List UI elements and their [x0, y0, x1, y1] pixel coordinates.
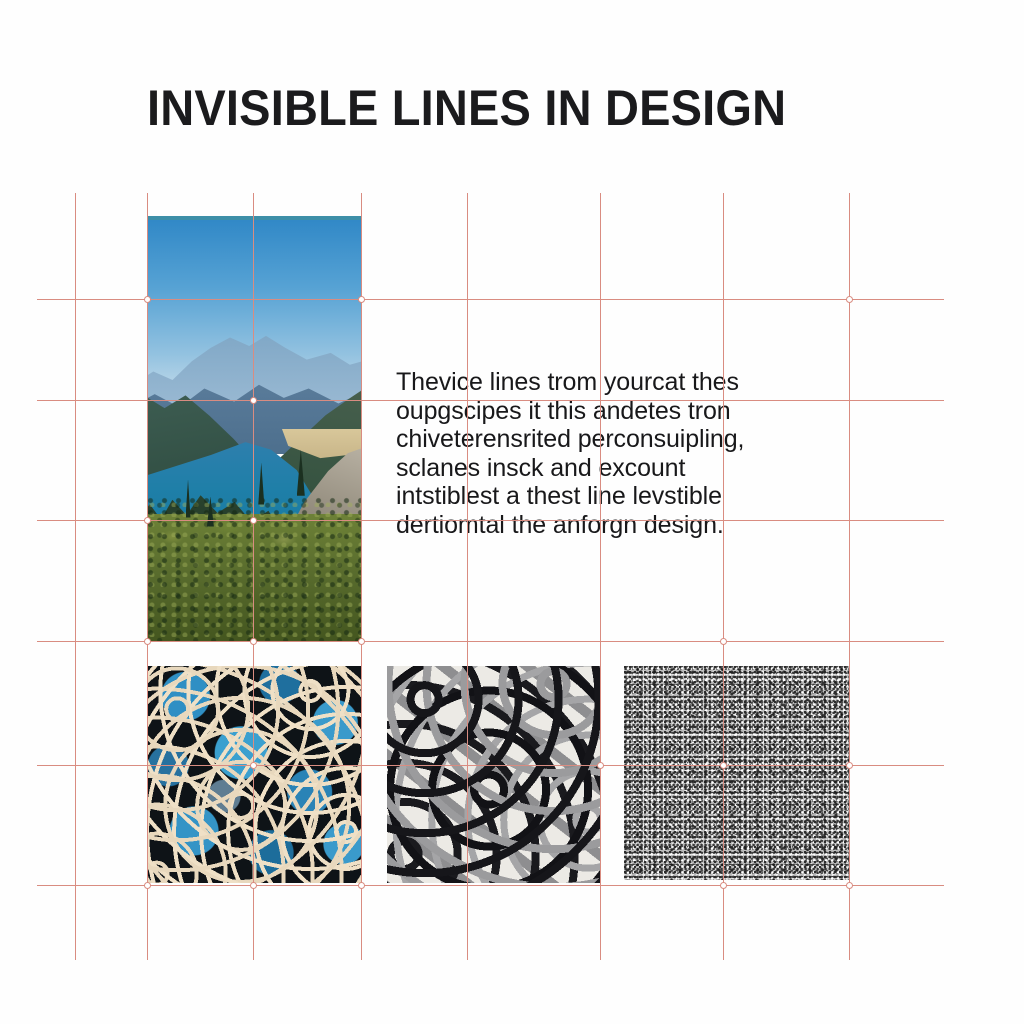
- grey-grain-texture-image: [624, 666, 849, 880]
- grid-line-horizontal: [37, 641, 944, 642]
- grid-intersection-node: [144, 882, 151, 889]
- pattern-blue-maze-lines: [147, 666, 361, 883]
- mountain-lake-landscape-image: [147, 216, 361, 641]
- grid-line-vertical: [361, 193, 362, 960]
- body-copy-line: dertiomtal the anforgn design.: [396, 511, 816, 540]
- grid-line-vertical: [849, 193, 850, 960]
- pattern-grain-speckle-coarse: [624, 666, 849, 880]
- grid-intersection-node: [720, 638, 727, 645]
- grid-intersection-node: [720, 882, 727, 889]
- body-copy-line: chiveterensrited perconsuipling,: [396, 425, 816, 454]
- grid-line-vertical: [75, 193, 76, 960]
- grid-intersection-node: [846, 882, 853, 889]
- grid-line-horizontal: [37, 885, 944, 886]
- monochrome-collage-pattern-image: [387, 666, 601, 883]
- design-poster-canvas: INVISIBLE LINES IN DESIGN The: [0, 0, 1024, 1024]
- photo-sky-edge: [147, 216, 361, 220]
- blue-labyrinth-pattern-image: [147, 666, 361, 883]
- body-copy-line: Thevice lines trom yourcat thes: [396, 368, 816, 397]
- grid-intersection-node: [846, 296, 853, 303]
- grid-intersection-node: [358, 882, 365, 889]
- body-copy-line: intstiblest a thest line levstible: [396, 482, 816, 511]
- grid-intersection-node: [250, 882, 257, 889]
- page-title: INVISIBLE LINES IN DESIGN: [147, 80, 786, 136]
- body-copy-block: Thevice lines trom yourcat thes oupgscip…: [396, 368, 816, 539]
- body-copy-line: sclanes insck and excount: [396, 454, 816, 483]
- photo-scrub-texture: [147, 497, 361, 642]
- pattern-mono-shapes: [387, 666, 601, 883]
- body-copy-line: oupgscipes it this andetes tron: [396, 397, 816, 426]
